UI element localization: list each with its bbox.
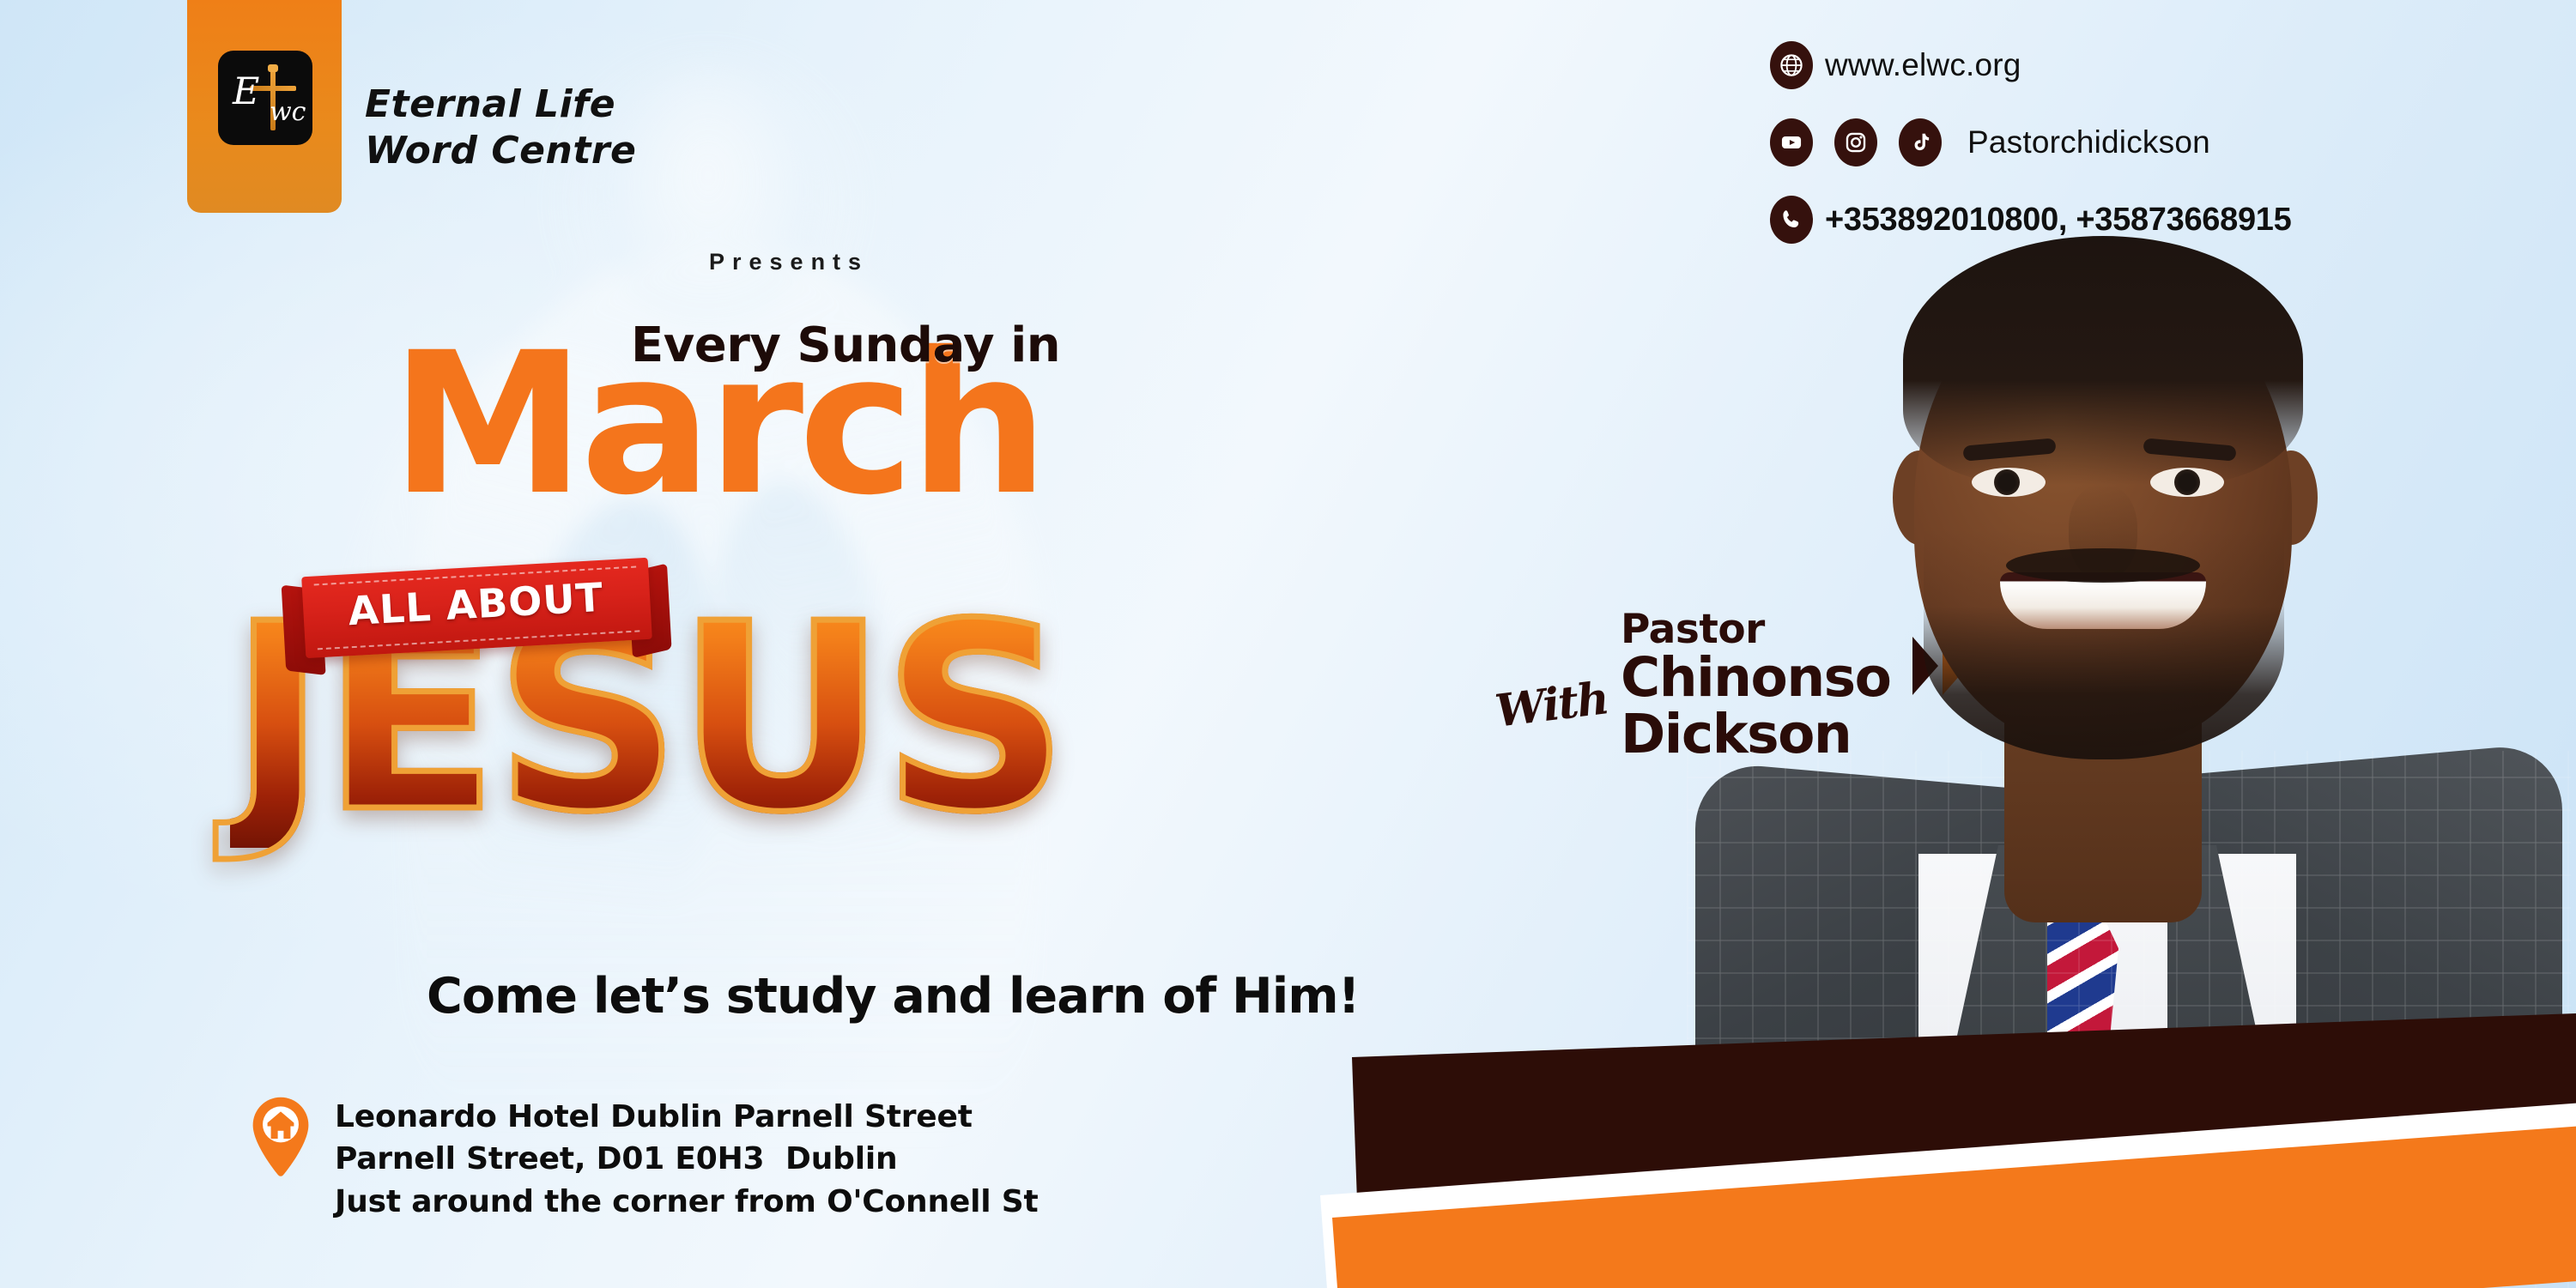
- youtube-icon[interactable]: [1770, 118, 1813, 166]
- all-about-ribbon: ALL ABOUT: [281, 552, 672, 680]
- social-row[interactable]: Pastorchidickson: [1770, 118, 2291, 166]
- logo-letters-wc: wc: [270, 100, 306, 125]
- instagram-icon[interactable]: [1834, 118, 1877, 166]
- tiktok-icon[interactable]: [1899, 118, 1942, 166]
- presents-label: Presents: [709, 249, 869, 275]
- venue-line-1: Leonardo Hotel Dublin Parnell Street: [335, 1096, 1038, 1138]
- org-name-line2: Word Centre: [365, 128, 846, 174]
- every-sunday-label: Every Sunday in: [631, 322, 1060, 370]
- with-script-label: With: [1493, 676, 1609, 735]
- globe-icon: [1770, 41, 1813, 89]
- logo-letter-e: E: [233, 74, 259, 111]
- venue-block: Leonardo Hotel Dublin Parnell Street Par…: [249, 1096, 1038, 1223]
- event-flyer: E wc Eternal Life Word Centre www.elwc.o…: [0, 0, 2576, 1288]
- event-tagline: Come let’s study and learn of Him!: [427, 972, 1360, 1021]
- social-handle-text: Pastorchidickson: [1967, 124, 2210, 160]
- org-name-line1: Eternal Life: [365, 82, 846, 128]
- venue-line-2: Parnell Street, D01 E0H3 Dublin: [335, 1138, 1038, 1180]
- organization-name: Eternal Life Word Centre: [365, 82, 846, 173]
- location-pin-home-icon: [249, 1096, 312, 1178]
- website-text: www.elwc.org: [1825, 47, 2021, 83]
- website-row[interactable]: www.elwc.org: [1770, 41, 2291, 89]
- elwc-logo-icon: E wc: [218, 51, 312, 145]
- venue-line-3: Just around the corner from O'Connell St: [335, 1181, 1038, 1223]
